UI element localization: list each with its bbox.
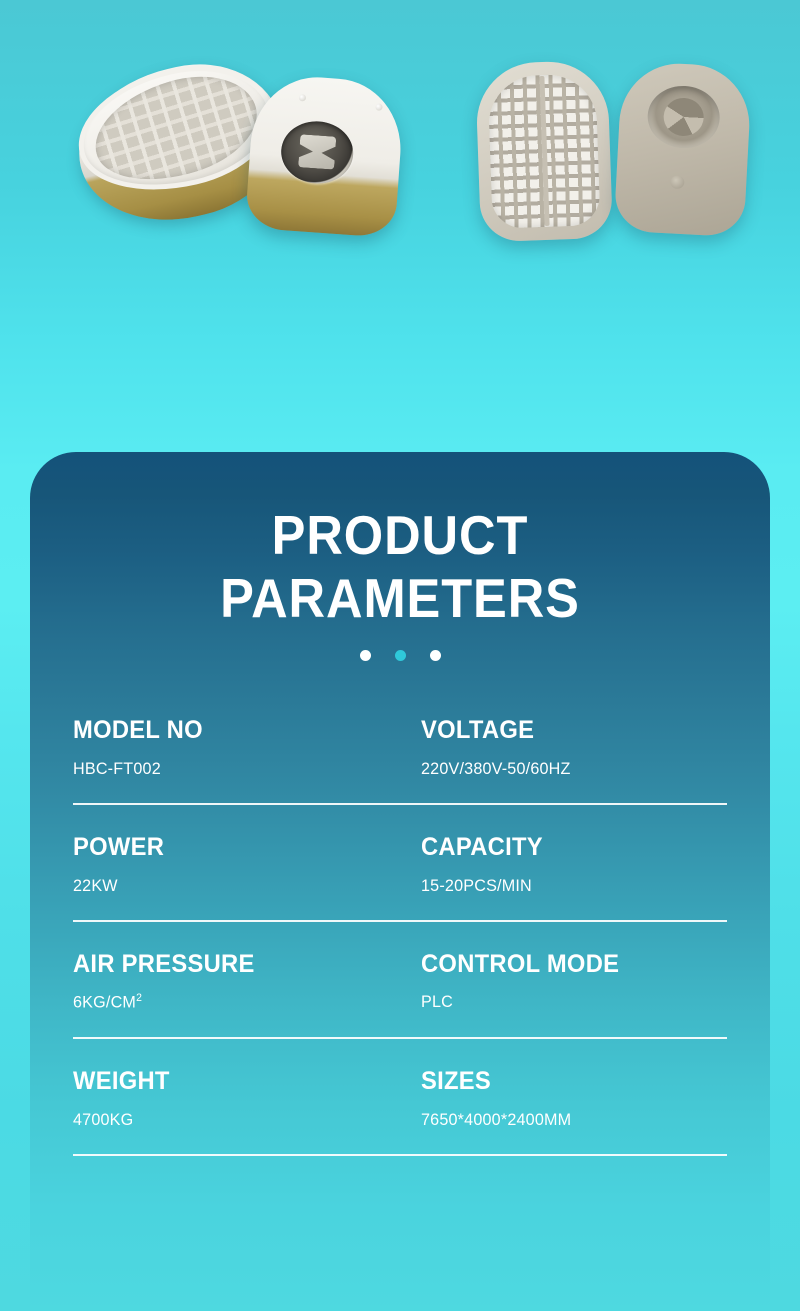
- param-value: 22KW: [73, 876, 384, 896]
- param-label: WEIGHT: [73, 1067, 384, 1096]
- param-cell-model-no: MODEL NO HBC-FT002: [73, 716, 400, 779]
- title-dot-decoration: [30, 650, 770, 661]
- filter-retainer-back-cover: [614, 61, 753, 238]
- table-row: WEIGHT 4700KG SIZES 7650*4000*2400MM: [73, 1039, 727, 1156]
- table-row: MODEL NO HBC-FT002 VOLTAGE 220V/380V-50/…: [73, 716, 727, 805]
- param-label: VOLTAGE: [421, 716, 712, 745]
- dot-icon: [360, 650, 371, 661]
- page-title: PRODUCT PARAMETERS: [60, 508, 741, 626]
- param-cell-weight: WEIGHT 4700KG: [73, 1067, 400, 1130]
- parameters-table: MODEL NO HBC-FT002 VOLTAGE 220V/380V-50/…: [73, 716, 727, 1156]
- param-label: POWER: [73, 833, 384, 862]
- table-row: POWER 22KW CAPACITY 15-20PCS/MIN: [73, 805, 727, 922]
- param-value-text: 6KG/CM: [73, 993, 136, 1012]
- param-value-superscript: 2: [136, 992, 142, 1004]
- param-cell-power: POWER 22KW: [73, 833, 400, 896]
- param-value: 6KG/CM2: [73, 992, 384, 1013]
- param-cell-sizes: SIZES 7650*4000*2400MM: [400, 1067, 727, 1130]
- cartridge-bayonet-port: [245, 73, 405, 238]
- param-label: CAPACITY: [421, 833, 712, 862]
- param-value: PLC: [421, 992, 712, 1012]
- param-cell-air-pressure: AIR PRESSURE 6KG/CM2: [73, 950, 400, 1013]
- dot-icon-accent: [395, 650, 406, 661]
- param-label: CONTROL MODE: [421, 950, 712, 979]
- param-value: 7650*4000*2400MM: [421, 1110, 712, 1130]
- param-label: AIR PRESSURE: [73, 950, 384, 979]
- param-cell-capacity: CAPACITY 15-20PCS/MIN: [400, 833, 727, 896]
- param-label: SIZES: [421, 1067, 712, 1096]
- product-parameters-card: PRODUCT PARAMETERS MODEL NO HBC-FT002 VO…: [30, 452, 770, 1311]
- filter-retainer-grid-cover: [475, 60, 613, 242]
- param-value: 220V/380V-50/60HZ: [421, 759, 712, 779]
- param-value: 4700KG: [73, 1110, 384, 1130]
- param-cell-voltage: VOLTAGE 220V/380V-50/60HZ: [400, 716, 727, 779]
- table-row: AIR PRESSURE 6KG/CM2 CONTROL MODE PLC: [73, 922, 727, 1039]
- param-value: 15-20PCS/MIN: [421, 876, 712, 896]
- page-title-line2: PARAMETERS: [60, 571, 741, 626]
- page-title-line1: PRODUCT: [272, 504, 529, 566]
- product-photo-banner: [0, 0, 800, 452]
- dot-icon: [430, 650, 441, 661]
- param-cell-control-mode: CONTROL MODE PLC: [400, 950, 727, 1013]
- param-label: MODEL NO: [73, 716, 384, 745]
- param-value: HBC-FT002: [73, 759, 384, 779]
